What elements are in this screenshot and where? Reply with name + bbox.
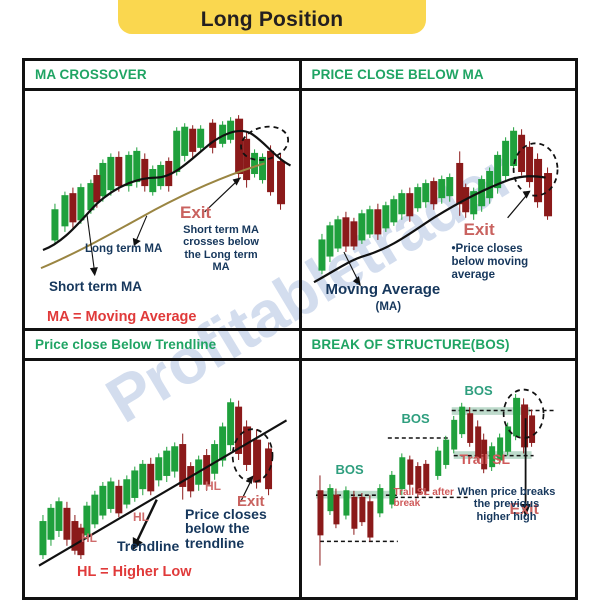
bos-label-2: BOS	[402, 411, 430, 426]
candlestick-chart	[302, 361, 576, 598]
panel-title: PRICE CLOSE BELOW MA	[312, 67, 484, 82]
panel-footnote: MA = Moving Average	[47, 309, 196, 325]
bos-note: When price breaks the previous higher hi…	[446, 486, 568, 524]
moving-average-label: Moving Average	[326, 282, 441, 299]
exit-arrow	[507, 191, 530, 218]
title-banner: Long Position	[118, 0, 426, 34]
hl-label-2: HL	[133, 510, 149, 524]
panel-chart-price-close-below-trendline: HL HL HL Exit Trendline Price closes bel…	[25, 361, 299, 598]
exit-label: Exit	[180, 203, 211, 223]
price-close-note: •Price closes below moving average	[452, 243, 564, 282]
trail-sl-label: Trail SL	[460, 451, 511, 467]
panel-break-of-structure: BREAK OF STRUCTURE(BOS)	[302, 331, 579, 600]
panel-ma-crossover: MA CROSSOVER	[25, 61, 302, 331]
price-close-note: Price closes below the trendline	[185, 507, 293, 551]
moving-average-abbr: (MA)	[376, 301, 402, 314]
panel-footnote: HL = Higher Low	[77, 564, 192, 580]
panel-header-ma-crossover: MA CROSSOVER	[25, 61, 299, 91]
panel-header-price-close-below-ma: PRICE CLOSE BELOW MA	[302, 61, 576, 91]
candlestick-chart	[25, 361, 299, 598]
panel-title: MA CROSSOVER	[35, 67, 147, 82]
hl-label-3: HL	[205, 479, 221, 493]
bos-label-3: BOS	[465, 383, 493, 398]
panel-price-close-below-trendline: Price close Below Trendline	[25, 331, 302, 600]
panel-title: Price close Below Trendline	[35, 337, 216, 352]
bos-label-1: BOS	[336, 462, 364, 477]
panel-title: BREAK OF STRUCTURE(BOS)	[312, 337, 510, 352]
panel-header-break-of-structure: BREAK OF STRUCTURE(BOS)	[302, 331, 576, 361]
panel-chart-ma-crossover: Exit Short term MA crosses below the Lon…	[25, 91, 299, 328]
panel-chart-break-of-structure: BOS BOS BOS Trail SL after break Trail S…	[302, 361, 576, 598]
panel-header-price-close-below-trendline: Price close Below Trendline	[25, 331, 299, 361]
short-term-ma-label: Short term MA	[49, 279, 142, 294]
long-term-ma-label: Long term MA	[85, 243, 162, 256]
page-title: Long Position	[201, 9, 344, 30]
panel-price-close-below-ma: PRICE CLOSE BELOW MA	[302, 61, 579, 331]
exit-label: Exit	[464, 220, 495, 240]
panel-grid: MA CROSSOVER	[22, 58, 578, 600]
crossover-note: Short term MA crosses below the Long ter…	[165, 224, 277, 273]
trendline-label: Trendline	[117, 539, 179, 555]
panel-chart-price-close-below-ma: Exit •Price closes below moving average …	[302, 91, 576, 328]
infographic-root: Profitabletrader Long Position MA CROSSO…	[0, 0, 600, 600]
hl-label-1: HL	[81, 531, 97, 545]
